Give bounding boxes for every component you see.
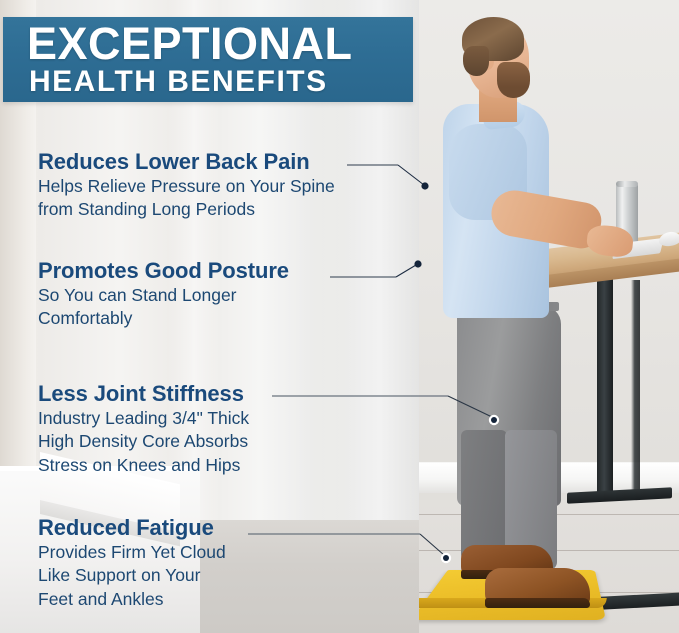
- benefit-line-1-2: from Standing Long Periods: [38, 199, 335, 221]
- benefit-heading-1: Reduces Lower Back Pain: [38, 150, 335, 174]
- benefit-line-1-1: Helps Relieve Pressure on Your Spine: [38, 176, 335, 198]
- benefit-line-3-1: Industry Leading 3/4" Thick: [38, 408, 249, 430]
- person-hair-side: [463, 46, 489, 76]
- infographic-poster: EXCEPTIONAL HEALTH BENEFITS Reduces Lowe…: [0, 0, 679, 633]
- person-leg-rear: [461, 430, 507, 562]
- benefit-line-2-2: Comfortably: [38, 308, 289, 330]
- product-photo: [419, 0, 679, 633]
- benefit-line-3-2: High Density Core Absorbs: [38, 431, 249, 453]
- banner-title-line1: EXCEPTIONAL: [27, 21, 353, 66]
- benefit-line-3-3: Stress on Knees and Hips: [38, 455, 249, 477]
- tumbler-lid: [616, 181, 638, 187]
- benefit-block-2: Promotes Good Posture So You can Stand L…: [38, 259, 289, 330]
- benefit-heading-2: Promotes Good Posture: [38, 259, 289, 283]
- header-banner: EXCEPTIONAL HEALTH BENEFITS: [3, 17, 413, 102]
- benefit-line-4-2: Like Support on Your: [38, 565, 226, 587]
- benefit-line-2-1: So You can Stand Longer: [38, 285, 289, 307]
- desk-leg: [597, 272, 613, 494]
- benefit-block-1: Reduces Lower Back Pain Helps Relieve Pr…: [38, 150, 335, 221]
- benefit-line-4-1: Provides Firm Yet Cloud: [38, 542, 226, 564]
- benefit-heading-4: Reduced Fatigue: [38, 516, 226, 540]
- benefit-line-4-3: Feet and Ankles: [38, 589, 226, 611]
- person-beard: [497, 62, 530, 98]
- benefit-block-4: Reduced Fatigue Provides Firm Yet Cloud …: [38, 516, 226, 610]
- benefit-heading-3: Less Joint Stiffness: [38, 382, 249, 406]
- banner-title-line2: HEALTH BENEFITS: [29, 67, 328, 97]
- person-shoe-front-sole: [485, 598, 590, 608]
- benefit-block-3: Less Joint Stiffness Industry Leading 3/…: [38, 382, 249, 476]
- desk-leg-rear: [631, 280, 640, 495]
